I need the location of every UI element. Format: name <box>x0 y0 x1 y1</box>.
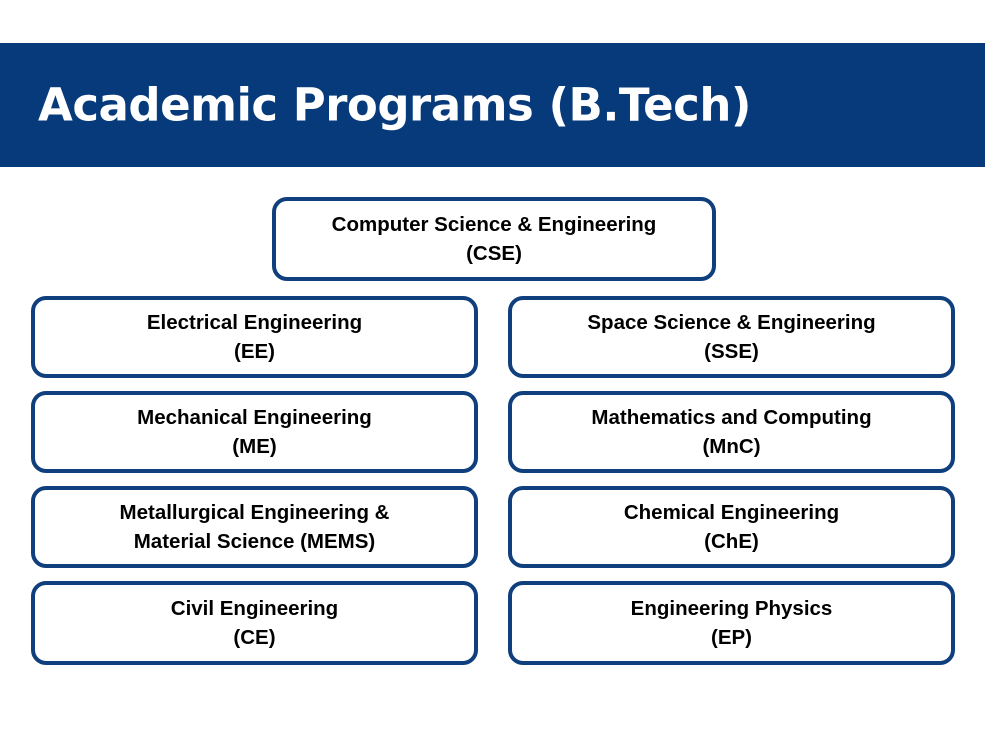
header-banner: Academic Programs (B.Tech) <box>0 43 985 167</box>
program-abbreviation: (SSE) <box>704 337 759 366</box>
program-box-mnc[interactable]: Mathematics and Computing (MnC) <box>508 391 955 473</box>
program-abbreviation: (EP) <box>711 623 752 652</box>
program-abbreviation: (EE) <box>234 337 275 366</box>
page-title: Academic Programs (B.Tech) <box>38 81 751 128</box>
program-abbreviation: (ChE) <box>704 527 759 556</box>
slide-canvas: Academic Programs (B.Tech) Computer Scie… <box>0 0 985 742</box>
program-box-che[interactable]: Chemical Engineering (ChE) <box>508 486 955 568</box>
program-box-ee[interactable]: Electrical Engineering (EE) <box>31 296 478 378</box>
program-box-sse[interactable]: Space Science & Engineering (SSE) <box>508 296 955 378</box>
program-box-me[interactable]: Mechanical Engineering (ME) <box>31 391 478 473</box>
program-name: Civil Engineering <box>171 594 338 623</box>
program-name: Computer Science & Engineering <box>332 210 657 239</box>
program-name: Metallurgical Engineering & <box>120 498 390 527</box>
program-name: Electrical Engineering <box>147 308 362 337</box>
program-abbreviation: (CE) <box>233 623 275 652</box>
program-box-cse[interactable]: Computer Science & Engineering (CSE) <box>272 197 716 281</box>
program-abbreviation: (MnC) <box>702 432 760 461</box>
program-name: Space Science & Engineering <box>587 308 875 337</box>
program-name: Mathematics and Computing <box>591 403 871 432</box>
program-box-ep[interactable]: Engineering Physics (EP) <box>508 581 955 665</box>
program-box-mems[interactable]: Metallurgical Engineering & Material Sci… <box>31 486 478 568</box>
program-abbreviation: (ME) <box>232 432 276 461</box>
program-name: Chemical Engineering <box>624 498 839 527</box>
program-abbreviation: Material Science (MEMS) <box>134 527 376 556</box>
program-abbreviation: (CSE) <box>466 239 522 268</box>
program-name: Mechanical Engineering <box>137 403 372 432</box>
program-box-ce[interactable]: Civil Engineering (CE) <box>31 581 478 665</box>
program-name: Engineering Physics <box>631 594 833 623</box>
